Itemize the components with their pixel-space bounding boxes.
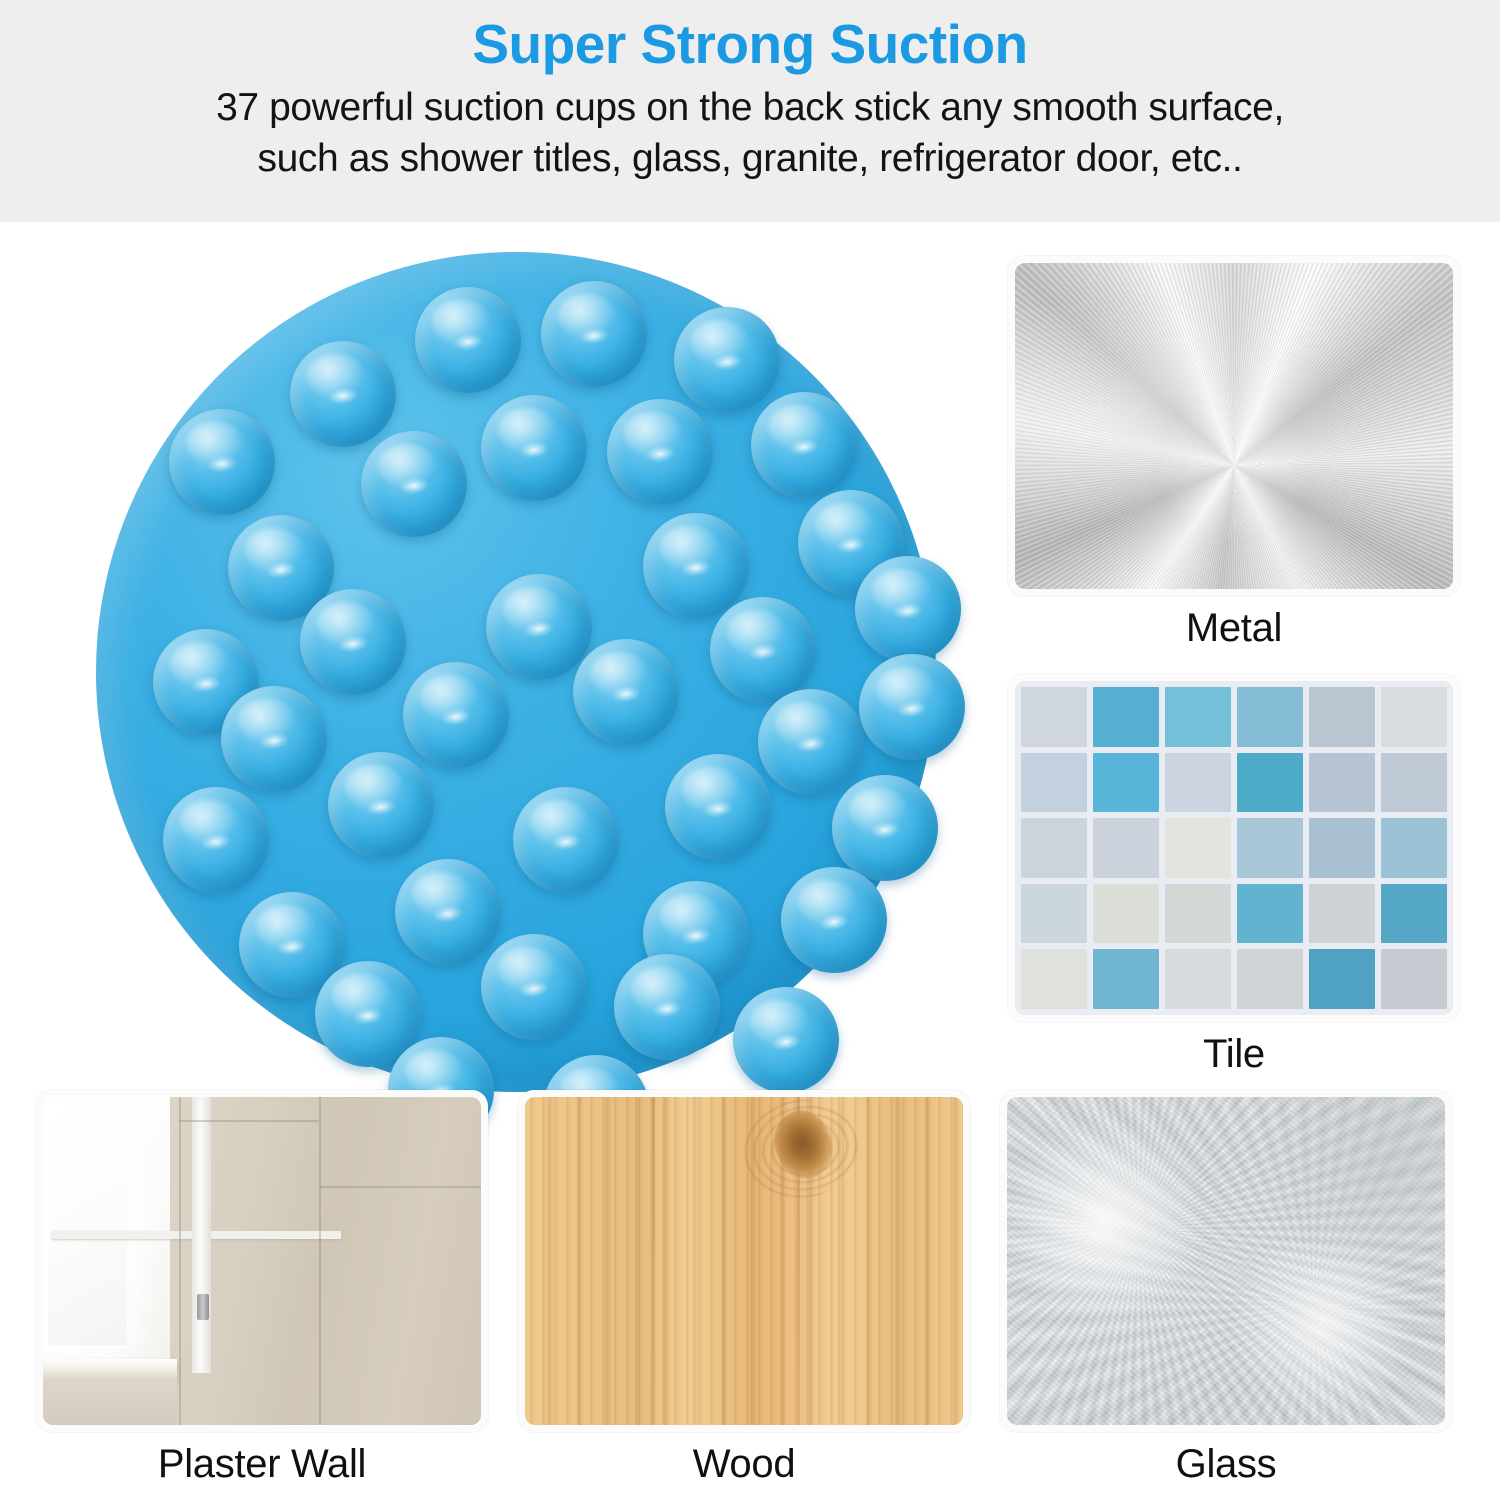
plaster-wall-swatch-frame xyxy=(36,1090,488,1432)
suction-cup xyxy=(221,686,327,792)
surface-label-plaster-wall: Plaster Wall xyxy=(36,1442,488,1486)
suction-cup xyxy=(614,954,720,1060)
suction-cup xyxy=(290,341,396,447)
suction-cup xyxy=(300,589,406,695)
window-glass xyxy=(48,1103,127,1345)
window-handle xyxy=(197,1294,208,1320)
suction-cup xyxy=(859,654,965,760)
tile-cell xyxy=(1165,818,1231,878)
suction-cup xyxy=(733,987,839,1093)
tile-cell xyxy=(1309,753,1375,813)
surface-card-glass: Glass xyxy=(1000,1090,1452,1486)
window-sill xyxy=(43,1359,177,1380)
tile-cell xyxy=(1093,687,1159,747)
tile-cell xyxy=(1237,884,1303,944)
suction-cup xyxy=(163,787,269,893)
wood-texture xyxy=(525,1097,963,1425)
tile-cell xyxy=(1093,818,1159,878)
surface-label-metal: Metal xyxy=(1008,606,1460,650)
wall-seam-middle xyxy=(319,1097,321,1425)
tile-cell xyxy=(1381,949,1447,1009)
surface-card-metal: Metal xyxy=(1008,256,1460,650)
suction-cup xyxy=(855,556,961,662)
surface-card-wood: Wood xyxy=(518,1090,970,1486)
tile-cell xyxy=(1021,884,1087,944)
suction-cup xyxy=(486,574,592,680)
tile-cell xyxy=(1093,949,1159,1009)
suction-cup xyxy=(607,399,713,505)
tile-swatch-frame xyxy=(1008,674,1460,1022)
tile-cell xyxy=(1165,687,1231,747)
window-sash xyxy=(192,1097,211,1373)
tile-cell xyxy=(1237,818,1303,878)
suction-cup xyxy=(751,392,857,498)
suction-cup xyxy=(328,752,434,858)
surface-label-glass: Glass xyxy=(1000,1442,1452,1486)
tile-cell xyxy=(1165,884,1231,944)
tile-cell xyxy=(1093,753,1159,813)
surface-label-wood: Wood xyxy=(518,1442,970,1486)
suction-cup xyxy=(758,689,864,795)
tile-cell xyxy=(1309,949,1375,1009)
tile-cell xyxy=(1381,818,1447,878)
product-feature-page: Super Strong Suction 37 powerful suction… xyxy=(0,0,1500,1500)
suction-cup xyxy=(481,934,587,1040)
metal-swatch-frame xyxy=(1008,256,1460,596)
wall-seam-top xyxy=(179,1120,319,1122)
tile-cell xyxy=(1237,753,1303,813)
tile-cell xyxy=(1165,753,1231,813)
suction-cup xyxy=(513,787,619,893)
tile-cell xyxy=(1021,687,1087,747)
header-banner: Super Strong Suction 37 powerful suction… xyxy=(0,0,1500,222)
suction-cup-disc xyxy=(96,252,936,1092)
suction-cup xyxy=(481,395,587,501)
tile-cell xyxy=(1237,687,1303,747)
suction-cup xyxy=(395,859,501,965)
suction-cup xyxy=(643,513,749,619)
suction-cup xyxy=(832,775,938,881)
glass-texture xyxy=(1007,1097,1445,1425)
wood-plank-seam-left xyxy=(652,1097,655,1425)
suction-cup xyxy=(541,281,647,387)
suction-cup xyxy=(415,287,521,393)
tile-cell xyxy=(1309,818,1375,878)
suction-cup xyxy=(710,597,816,703)
suction-cup xyxy=(361,431,467,537)
wood-swatch-frame xyxy=(518,1090,970,1432)
suction-cup xyxy=(403,662,509,768)
wall-seam-left xyxy=(179,1097,181,1425)
wall-seam-upper-right xyxy=(319,1186,481,1188)
tile-cell xyxy=(1021,949,1087,1009)
glass-swatch-frame xyxy=(1000,1090,1452,1432)
tile-cell xyxy=(1165,949,1231,1009)
plaster-wall-texture xyxy=(43,1097,481,1425)
tile-cell xyxy=(1309,884,1375,944)
suction-cup xyxy=(781,867,887,973)
surface-label-tile: Tile xyxy=(1008,1032,1460,1076)
tile-cell xyxy=(1021,753,1087,813)
suction-cup xyxy=(573,639,679,745)
tile-texture xyxy=(1015,681,1453,1015)
header-description: 37 powerful suction cups on the back sti… xyxy=(0,82,1500,185)
metal-texture xyxy=(1015,263,1453,589)
tile-cell xyxy=(1309,687,1375,747)
header-description-line-1: 37 powerful suction cups on the back sti… xyxy=(34,82,1466,133)
header-description-line-2: such as shower titles, glass, granite, r… xyxy=(34,133,1466,184)
wall-below-window xyxy=(43,1379,177,1425)
suction-cup xyxy=(665,754,771,860)
page-title: Super Strong Suction xyxy=(0,14,1500,76)
tile-cell xyxy=(1093,884,1159,944)
tile-cell xyxy=(1381,884,1447,944)
surface-card-plaster-wall: Plaster Wall xyxy=(36,1090,488,1486)
surface-card-tile: Tile xyxy=(1008,674,1460,1076)
suction-cup xyxy=(169,409,275,515)
tile-cell xyxy=(1381,753,1447,813)
tile-cell xyxy=(1021,818,1087,878)
tile-cell xyxy=(1237,949,1303,1009)
tile-cell xyxy=(1381,687,1447,747)
suction-cup xyxy=(674,307,780,413)
